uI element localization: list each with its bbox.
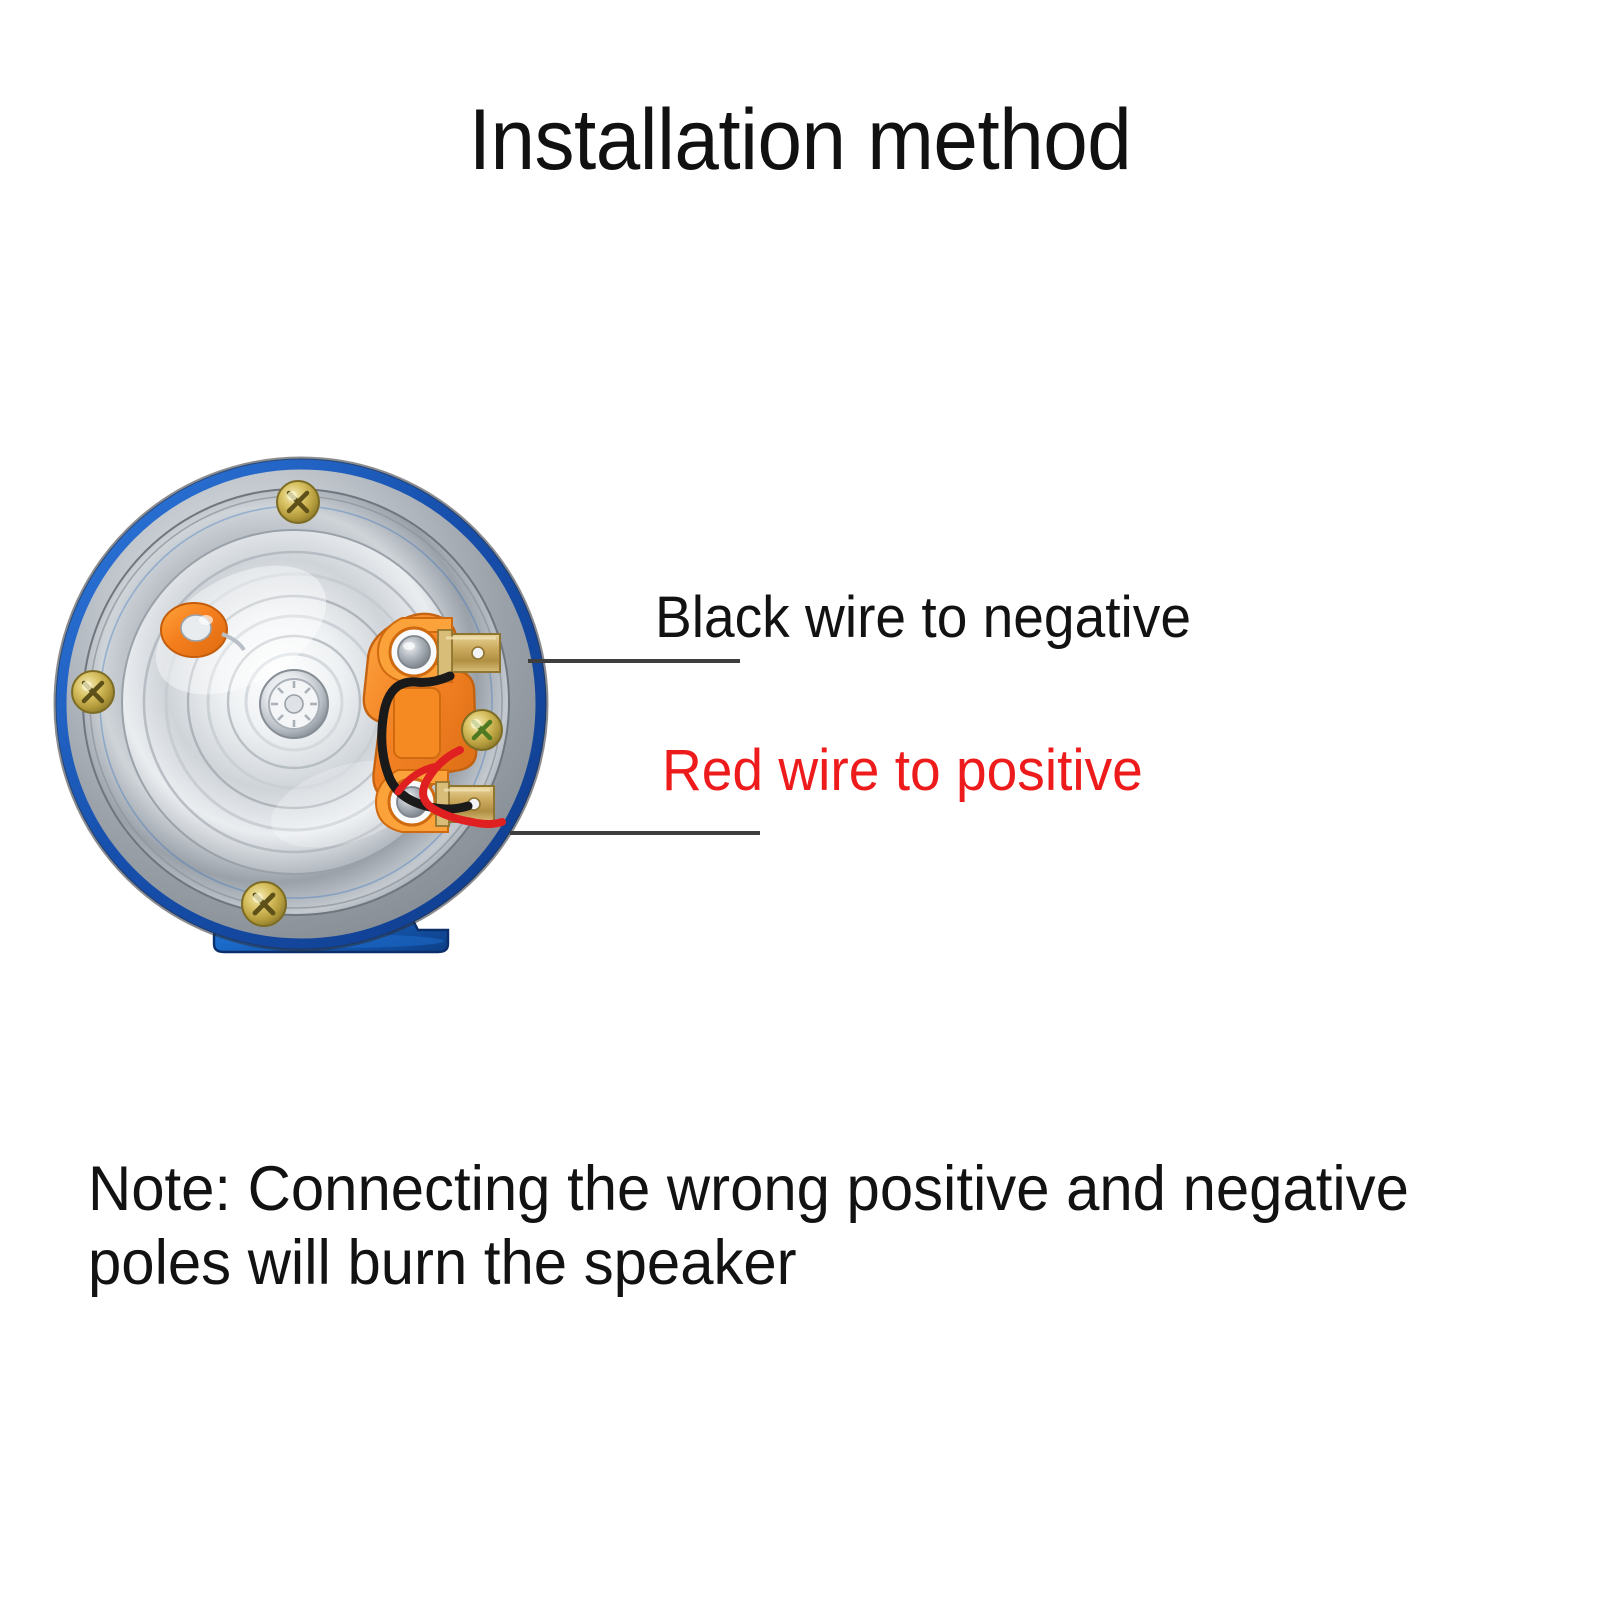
screw-right xyxy=(462,710,502,750)
note-line-1: Note: Connecting the wrong positive and … xyxy=(88,1152,1447,1226)
page-root: Installation method xyxy=(0,0,1600,1600)
note-line-2: poles will burn the speaker xyxy=(88,1226,1447,1300)
page-title: Installation method xyxy=(56,92,1544,188)
note-block: Note: Connecting the wrong positive and … xyxy=(88,1152,1447,1300)
screw-bottom xyxy=(242,882,286,926)
leader-line-black-wire xyxy=(528,659,740,663)
leader-line-red-wire xyxy=(510,831,760,835)
callout-black-wire-label: Black wire to negative xyxy=(655,586,1191,650)
center-hub-nut xyxy=(260,670,328,738)
callout-red-wire-label: Red wire to positive xyxy=(662,739,1143,803)
screw-left xyxy=(72,671,114,713)
product-horn-illustration xyxy=(46,452,566,972)
screw-top xyxy=(277,481,319,523)
